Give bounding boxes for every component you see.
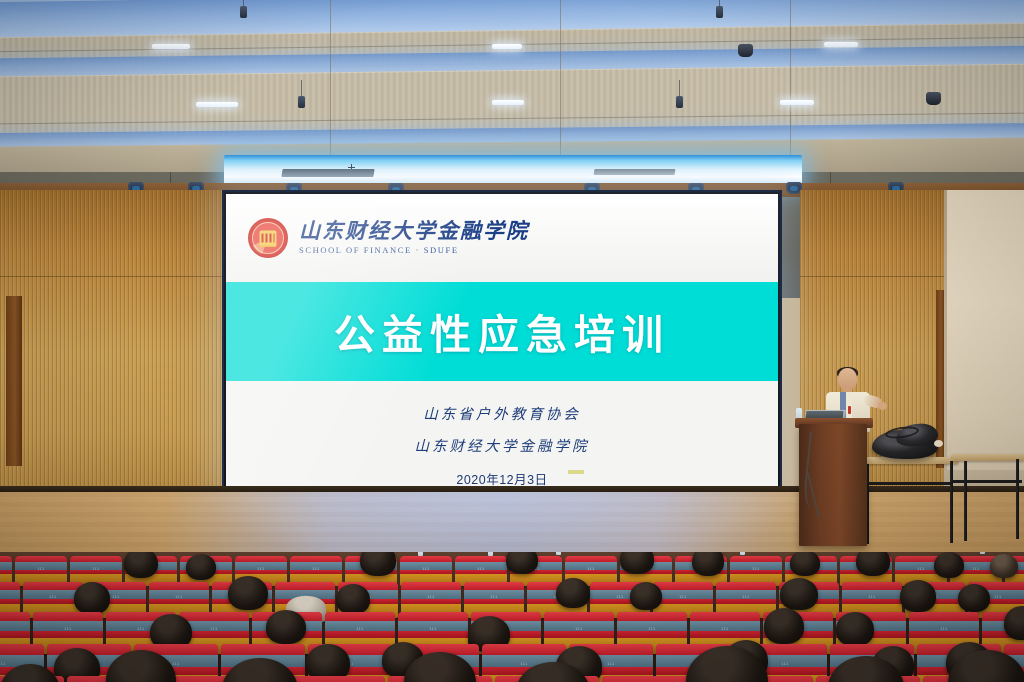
audience-head bbox=[790, 552, 820, 576]
ceiling-strip-light bbox=[196, 102, 238, 107]
organizer-line-2: 山东财经大学金融学院 bbox=[415, 435, 590, 456]
presentation-slide: 山东财经大学金融学院 SCHOOL OF FINANCE · SDUFE 公益性… bbox=[226, 194, 778, 488]
audience-head bbox=[74, 582, 110, 614]
ceiling-strip-light bbox=[492, 100, 524, 105]
audience-head bbox=[764, 608, 804, 644]
ceiling-pendant-fixture bbox=[240, 6, 247, 18]
ceiling-speaker-box bbox=[926, 92, 941, 105]
ceiling-pendant-fixture bbox=[676, 96, 683, 108]
presenter-hand bbox=[878, 402, 887, 410]
table-leg bbox=[964, 461, 967, 541]
audience-head bbox=[856, 552, 890, 576]
audience-head bbox=[630, 582, 662, 610]
audience-head bbox=[900, 580, 936, 612]
slide-header: 山东财经大学金融学院 SCHOOL OF FINANCE · SDUFE bbox=[226, 194, 778, 282]
audience-head bbox=[556, 578, 590, 608]
water-bottle bbox=[980, 552, 985, 554]
institution-name-cn: 山东财经大学金融学院 bbox=[299, 220, 529, 241]
organizer-line-1: 山东省户外教育协会 bbox=[423, 403, 581, 424]
ceiling-strip-light bbox=[824, 42, 858, 47]
audience-head bbox=[692, 552, 724, 576]
slide-title-band: 公益性应急培训 bbox=[226, 282, 778, 381]
folding-table-2-top bbox=[952, 454, 1024, 461]
panel-inset-1 bbox=[281, 169, 375, 177]
table-leg bbox=[950, 461, 953, 543]
audience-head bbox=[186, 554, 216, 580]
panel-inset-2 bbox=[593, 169, 675, 175]
ceiling-seam-vertical bbox=[560, 0, 561, 175]
institution-name-en: SCHOOL OF FINANCE · SDUFE bbox=[299, 245, 529, 255]
slide-main-title: 公益性应急培训 bbox=[334, 301, 670, 361]
audience-head bbox=[266, 610, 306, 644]
audience-seating: 111 111 111 111 111 111 111 111 111 111 … bbox=[0, 552, 1024, 682]
ceiling-speaker-box bbox=[738, 44, 753, 57]
audience-head bbox=[934, 552, 964, 578]
auditorium-photo: 山东财经大学金融学院 SCHOOL OF FINANCE · SDUFE 公益性… bbox=[0, 0, 1024, 682]
audience-head bbox=[124, 552, 158, 578]
slide-marker bbox=[568, 470, 584, 474]
table-brace bbox=[866, 482, 952, 485]
ceiling-seam-vertical bbox=[790, 0, 791, 175]
presenter-badge bbox=[848, 406, 851, 414]
ceiling-strip-light bbox=[492, 44, 522, 49]
water-bottle bbox=[740, 552, 745, 555]
projection-screen-frame: 山东财经大学金融学院 SCHOOL OF FINANCE · SDUFE 公益性… bbox=[222, 190, 782, 492]
audience-head bbox=[990, 554, 1018, 578]
wall-recess-left bbox=[6, 296, 22, 466]
sdufe-seal-icon bbox=[248, 218, 288, 258]
audience-head bbox=[958, 584, 990, 612]
slide-body: 山东省户外教育协会 山东财经大学金融学院 2020年12月3日 bbox=[226, 381, 778, 488]
audience-head bbox=[780, 578, 818, 610]
ceiling bbox=[0, 0, 1024, 175]
audience-head bbox=[336, 584, 370, 614]
ceiling-seam-vertical bbox=[330, 0, 331, 175]
table-brace bbox=[952, 480, 1022, 483]
backlit-blue-panel bbox=[224, 155, 802, 185]
bag-light-detail bbox=[934, 440, 943, 447]
wood-wall-left bbox=[0, 190, 226, 502]
ceiling-strip-light bbox=[152, 44, 190, 49]
audience-head bbox=[506, 552, 538, 574]
audience-head bbox=[228, 576, 268, 610]
water-bottle bbox=[556, 552, 561, 555]
ceiling-pendant-fixture bbox=[716, 6, 723, 18]
audience-head bbox=[360, 552, 396, 576]
presenter-head bbox=[838, 368, 857, 390]
ceiling-strip-light bbox=[780, 100, 814, 105]
ceiling-pendant-fixture bbox=[298, 96, 305, 108]
audience-head bbox=[836, 612, 874, 646]
table-leg bbox=[1016, 459, 1019, 539]
audience-head bbox=[620, 552, 654, 574]
